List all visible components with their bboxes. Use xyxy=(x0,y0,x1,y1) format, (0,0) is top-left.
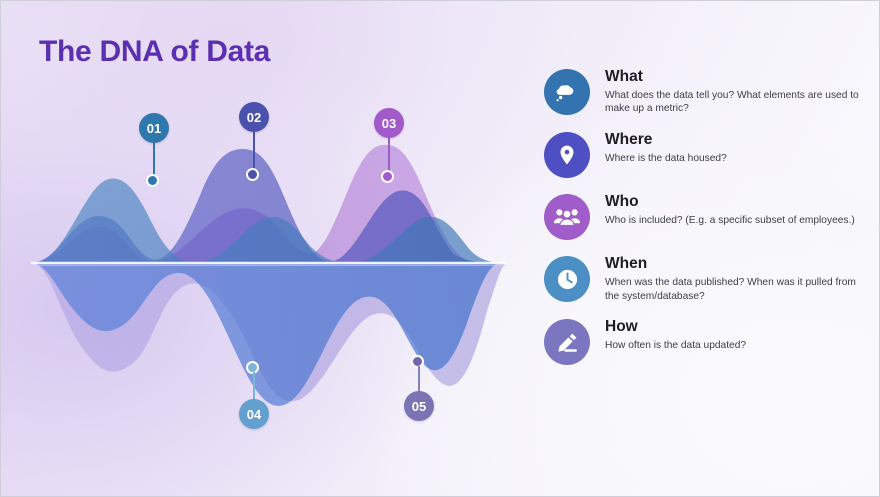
marker-dot xyxy=(246,168,259,181)
marker-bubble-label: 04 xyxy=(239,399,269,429)
list-item-title: When xyxy=(605,255,862,273)
marker-dot xyxy=(146,174,159,187)
page-title: The DNA of Data xyxy=(39,35,270,69)
clock-icon xyxy=(555,267,580,292)
list-item-where[interactable]: Where Where is the data housed? xyxy=(544,130,862,178)
list-item-who[interactable]: Who Who is included? (E.g. a specific su… xyxy=(544,192,862,240)
list-item-title: What xyxy=(605,68,862,86)
topic-list: What What does the data tell you? What e… xyxy=(544,67,862,379)
list-item-desc: When was the data published? When was it… xyxy=(605,276,862,303)
list-item-how[interactable]: How How often is the data updated? xyxy=(544,317,862,365)
icon-circle-when xyxy=(544,256,590,302)
slide-canvas: The DNA of Data xyxy=(0,0,880,497)
list-item-text: How How often is the data updated? xyxy=(605,317,746,352)
marker-bubble-label: 01 xyxy=(139,113,169,143)
list-item-desc: Where is the data housed? xyxy=(605,152,727,166)
pencil-icon xyxy=(555,330,580,355)
list-item-text: Who Who is included? (E.g. a specific su… xyxy=(605,192,855,227)
list-item-text: What What does the data tell you? What e… xyxy=(605,67,862,116)
people-group-icon xyxy=(553,205,581,229)
marker-bubble-label: 03 xyxy=(374,108,404,138)
list-item-title: Where xyxy=(605,131,727,149)
marker-dot xyxy=(381,170,394,183)
icon-circle-where xyxy=(544,132,590,178)
marker-bubble-label: 02 xyxy=(239,102,269,132)
list-item-desc: How often is the data updated? xyxy=(605,339,746,353)
icon-circle-who xyxy=(544,194,590,240)
icon-circle-how xyxy=(544,319,590,365)
list-item-what[interactable]: What What does the data tell you? What e… xyxy=(544,67,862,116)
wave-chart xyxy=(1,111,531,431)
list-item-title: How xyxy=(605,318,746,336)
icon-circle-what xyxy=(544,69,590,115)
location-pin-icon xyxy=(555,143,579,167)
list-item-title: Who xyxy=(605,193,855,211)
list-item-when[interactable]: When When was the data published? When w… xyxy=(544,254,862,303)
list-item-desc: What does the data tell you? What elemen… xyxy=(605,89,862,116)
thought-bubble-icon xyxy=(554,79,580,105)
list-item-desc: Who is included? (E.g. a specific subset… xyxy=(605,214,855,228)
list-item-text: Where Where is the data housed? xyxy=(605,130,727,165)
list-item-text: When When was the data published? When w… xyxy=(605,254,862,303)
marker-bubble-label: 05 xyxy=(404,391,434,421)
marker-stem xyxy=(253,372,255,402)
